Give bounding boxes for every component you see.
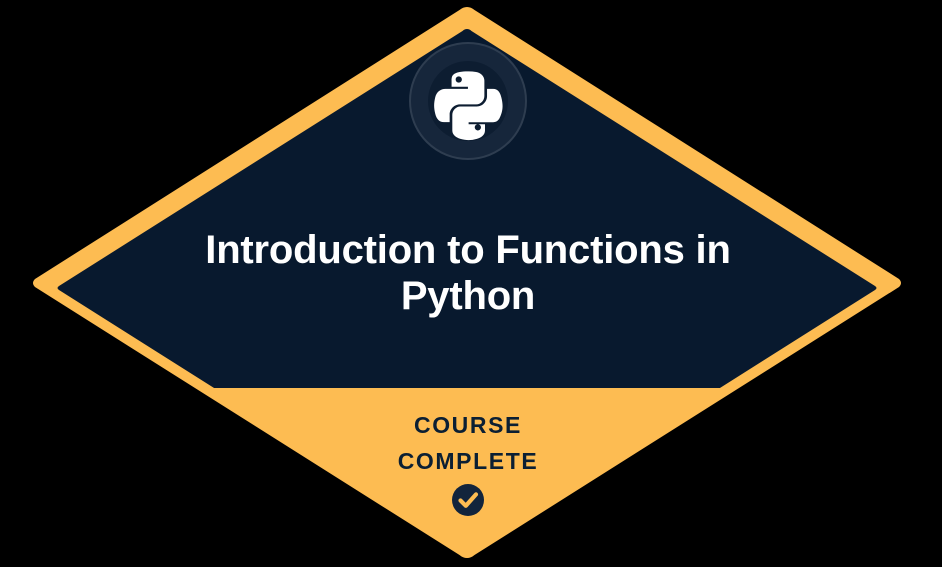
course-completion-badge[interactable]: Introduction to Functions in Python COUR…	[0, 0, 942, 567]
course-title-line-1: Introduction to Functions in	[205, 228, 730, 272]
check-circle-icon	[452, 484, 484, 516]
badge-stage: Introduction to Functions in Python COUR…	[0, 0, 942, 567]
check-circle-background	[452, 484, 484, 516]
python-logo-medallion	[410, 43, 526, 159]
status-line-1: COURSE	[414, 412, 522, 438]
course-title-line-2: Python	[401, 274, 535, 318]
status-line-2: COMPLETE	[398, 448, 539, 474]
